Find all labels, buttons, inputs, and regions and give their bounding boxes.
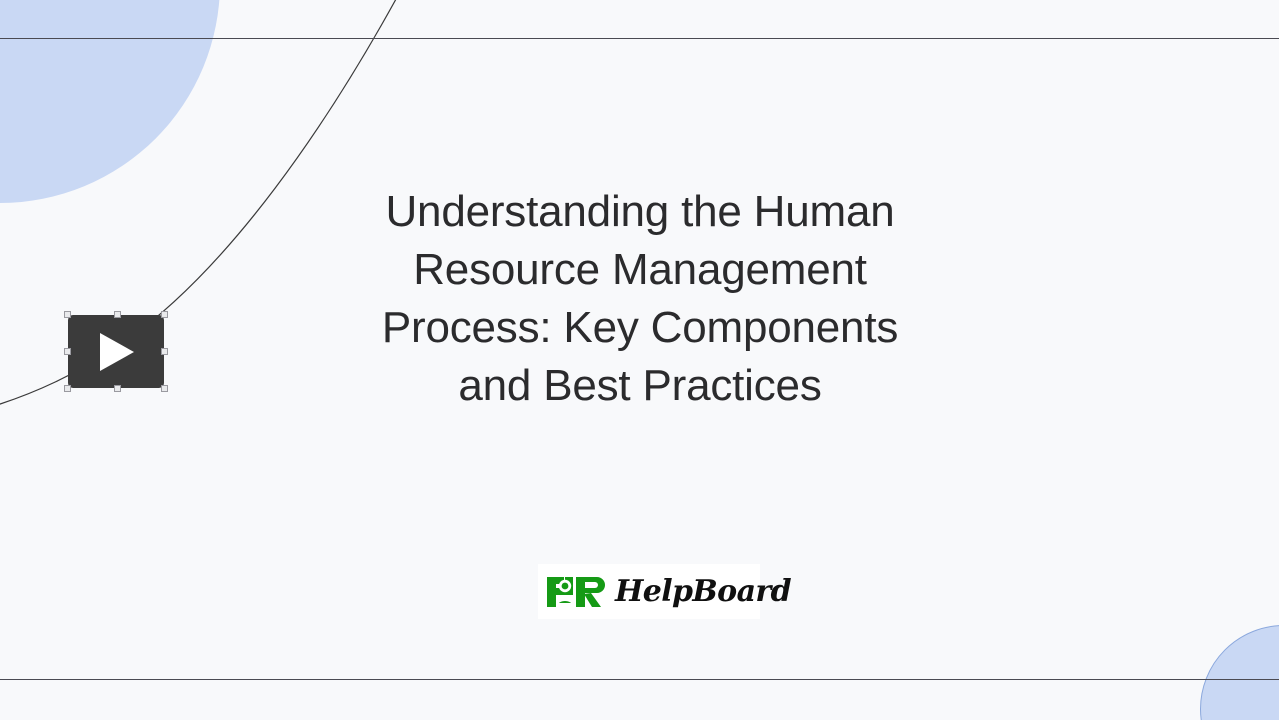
selection-handle-top-middle[interactable]: [114, 311, 121, 318]
play-button-background: [68, 315, 164, 388]
play-triangle-icon: [100, 333, 134, 371]
blue-circle-bottom-right-icon: [1200, 625, 1279, 720]
divider-line-top: [0, 38, 1279, 39]
divider-line-bottom: [0, 679, 1279, 680]
selection-handle-middle-right[interactable]: [161, 348, 168, 355]
video-play-button[interactable]: [68, 315, 164, 388]
blue-circle-top-left-icon: [0, 0, 220, 203]
slide-title: Understanding the Human Resource Managem…: [290, 183, 990, 415]
hr-monogram-icon: [545, 573, 617, 611]
selection-handle-top-right[interactable]: [161, 311, 168, 318]
brand-wordmark: HelpBoard: [615, 577, 791, 607]
selection-handle-middle-left[interactable]: [64, 348, 71, 355]
selection-handle-bottom-right[interactable]: [161, 385, 168, 392]
selection-handle-bottom-middle[interactable]: [114, 385, 121, 392]
presentation-slide: Understanding the Human Resource Managem…: [0, 0, 1279, 720]
selection-handle-top-left[interactable]: [64, 311, 71, 318]
brand-logo: HelpBoard: [538, 564, 760, 619]
selection-handle-bottom-left[interactable]: [64, 385, 71, 392]
